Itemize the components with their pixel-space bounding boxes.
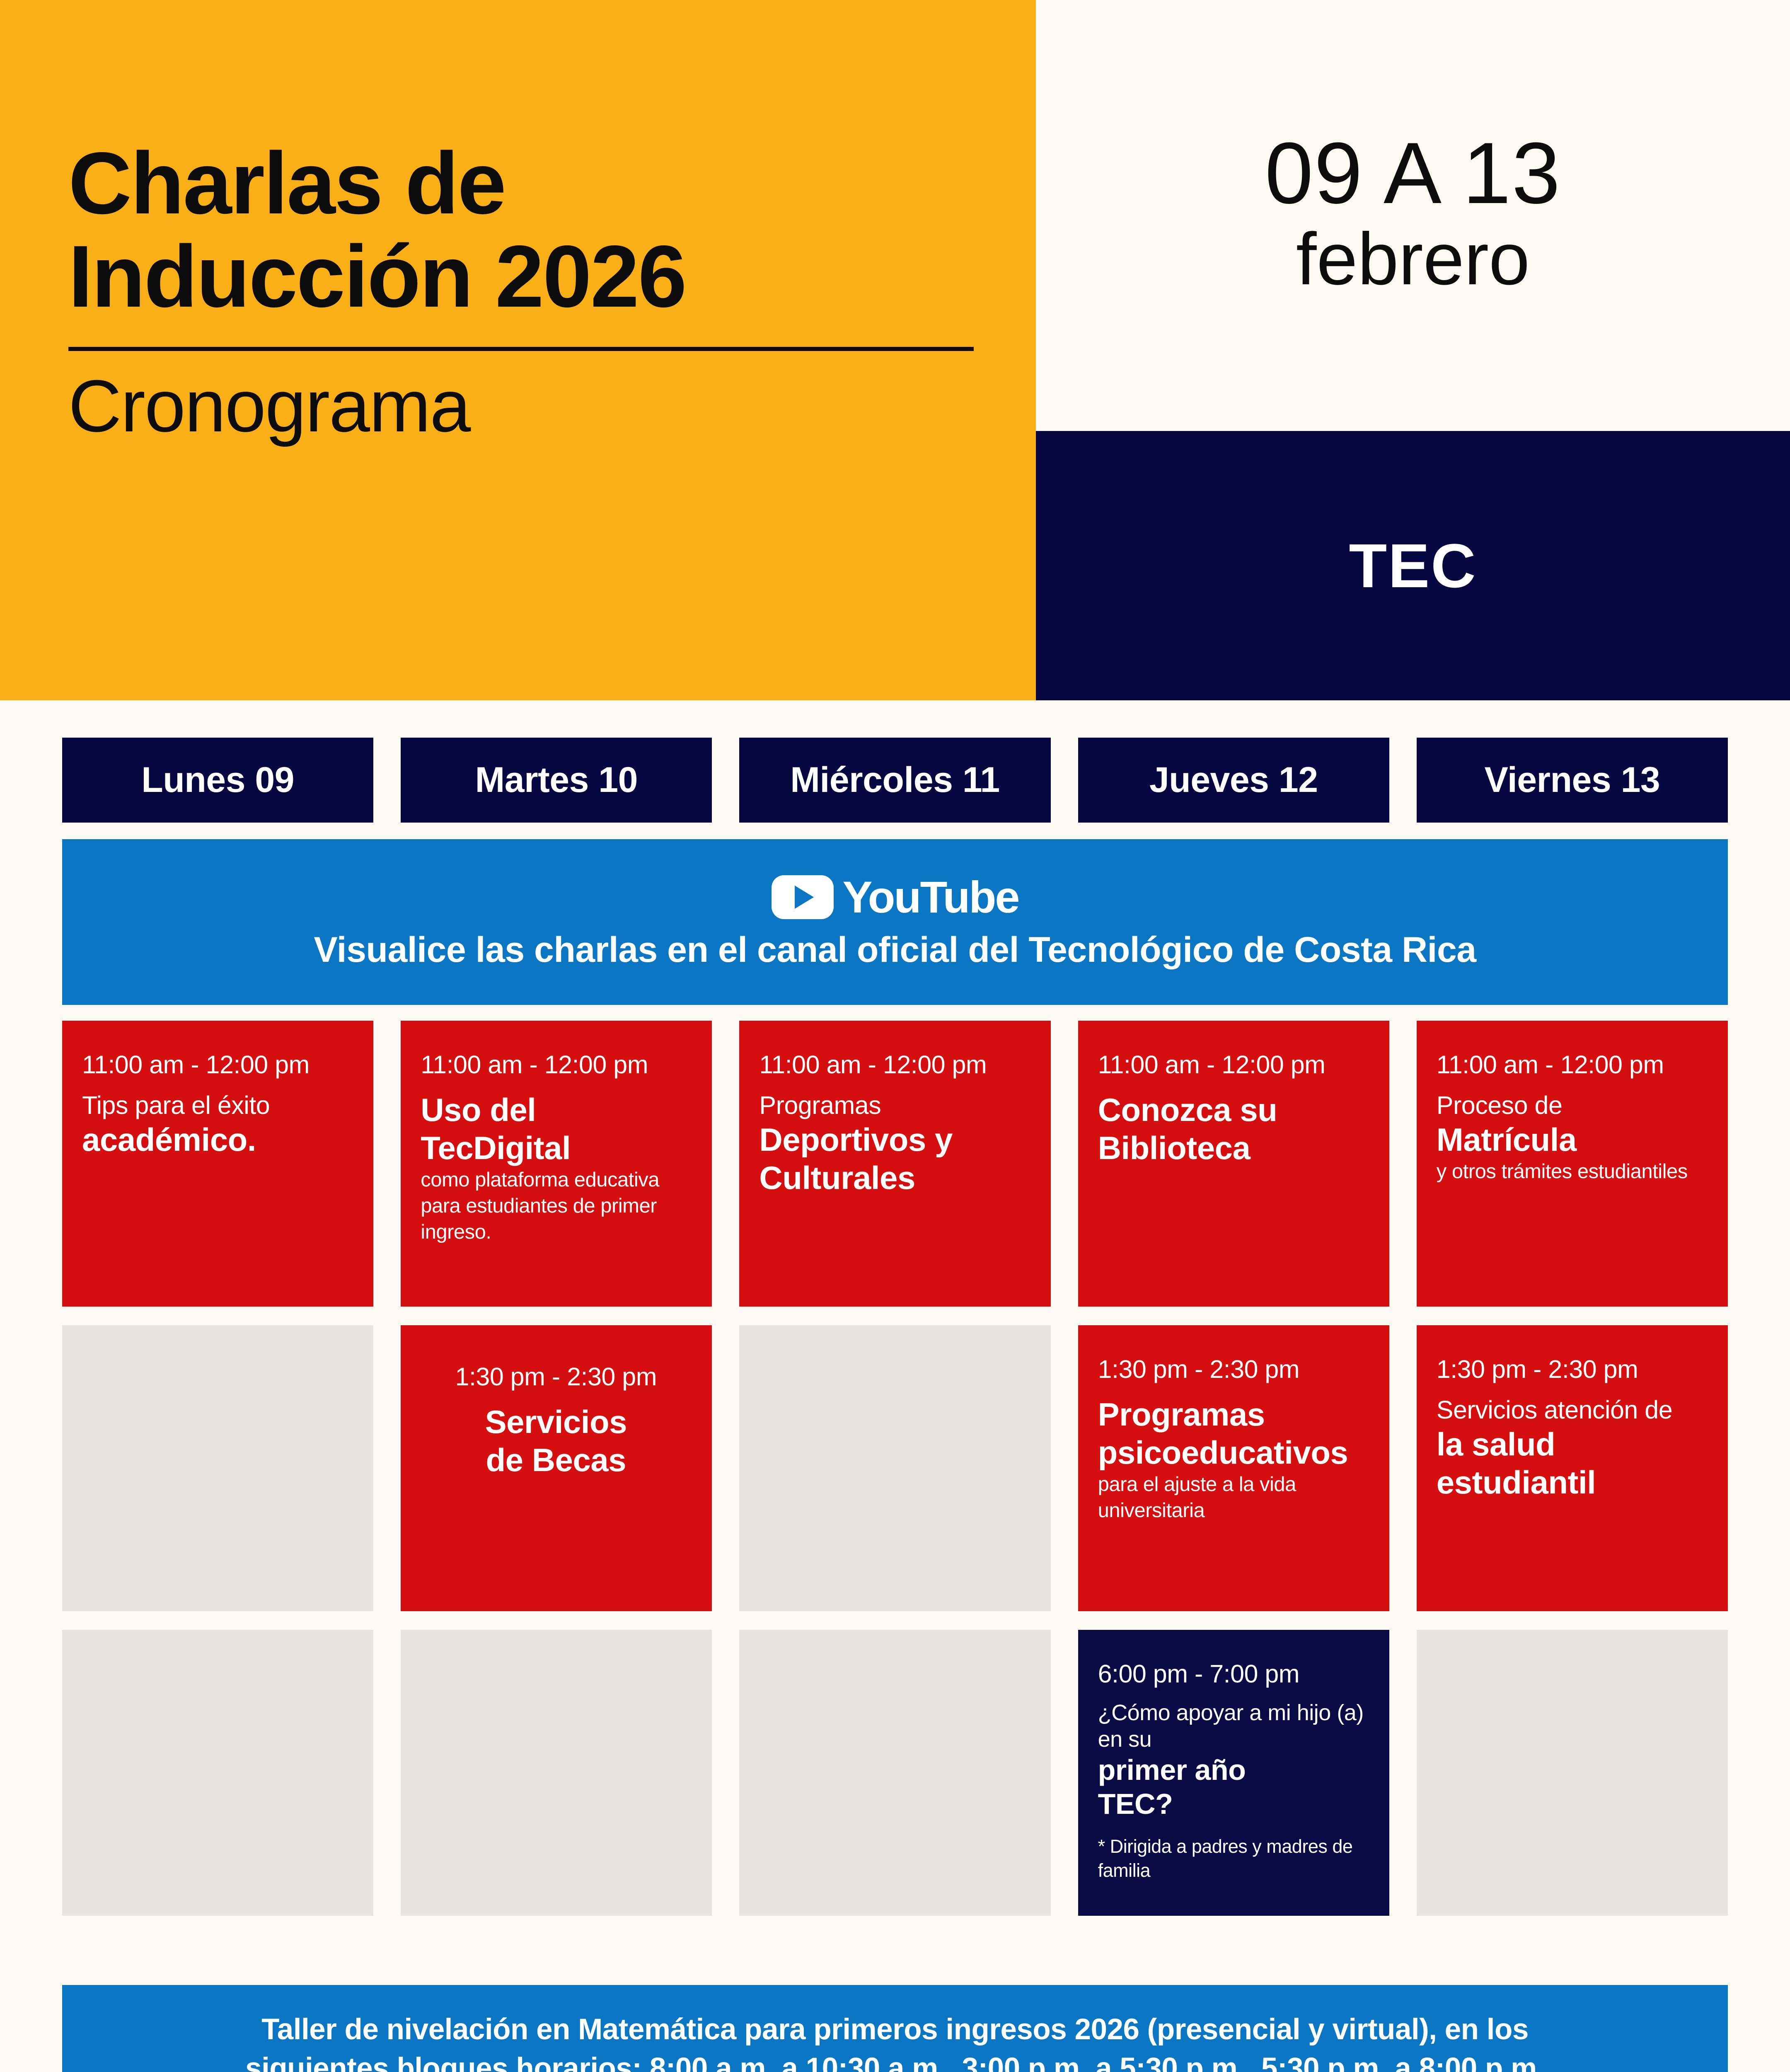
session-text-line: Servicios [421,1403,691,1441]
session-text-line: Tips para el éxito [82,1091,353,1121]
date-month: febrero [1296,217,1530,302]
session-text-line: como plataforma educativa para estudiant… [421,1167,691,1245]
poster-header: Charlas de Inducción 2026 Cronograma 09 … [0,0,1790,700]
session-time: 11:00 am - 12:00 pm [759,1050,1030,1080]
schedule-cell-empty [1417,1630,1728,1916]
session-text-line: de Becas [421,1441,691,1479]
page-subtitle: Cronograma [68,369,1036,443]
schedule-cell[interactable]: 11:00 am - 12:00 pmUso delTecDigitalcomo… [401,1021,712,1307]
schedule-cell[interactable]: 1:30 pm - 2:30 pmProgramaspsicoeducativo… [1078,1325,1389,1611]
schedule-cards: 11:00 am - 12:00 pmTips para el éxitoaca… [62,1021,1728,1916]
session-text-line: * Dirigida a padres y madres de familia [1098,1835,1369,1883]
session-text-line: Programas [759,1091,1030,1121]
youtube-banner[interactable]: YouTube Visualice las charlas en el cana… [62,839,1728,1005]
session-text-line: para el ajuste a la vida universitaria [1098,1472,1369,1523]
day-header-viernes[interactable]: Viernes 13 [1417,738,1728,823]
session-text-line: Proceso de [1437,1091,1707,1121]
session-time: 11:00 am - 12:00 pm [421,1050,691,1080]
schedule-cell[interactable]: 1:30 pm - 2:30 pmServicios atención dela… [1417,1325,1728,1611]
session-time: 11:00 am - 12:00 pm [82,1050,353,1080]
session-text-line: Conozca su [1098,1091,1369,1129]
session-text-line: TEC? [1098,1787,1369,1821]
session-text-line: Deportivos y [759,1121,1030,1159]
youtube-wordmark: YouTube [843,875,1019,920]
schedule-cell[interactable]: 1:30 pm - 2:30 pmServiciosde Becas [401,1325,712,1611]
page-title: Charlas de Inducción 2026 [68,137,1036,323]
session-time: 11:00 am - 12:00 pm [1437,1050,1707,1080]
session-time: 1:30 pm - 2:30 pm [1437,1354,1707,1385]
session-time: 11:00 am - 12:00 pm [1098,1050,1369,1080]
header-date-block: 09 A 13 febrero [1036,0,1790,431]
schedule-cell-empty [62,1630,373,1916]
schedule-cell[interactable]: 6:00 pm - 7:00 pm¿Cómo apoyar a mi hijo … [1078,1630,1389,1916]
tec-logo: TEC [1349,535,1477,597]
schedule-column: 11:00 am - 12:00 pmConozca suBiblioteca1… [1078,1021,1389,1916]
youtube-caption: Visualice las charlas en el canal oficia… [314,930,1476,970]
session-text-line: Culturales [759,1159,1030,1197]
schedule-grid: Lunes 09 Martes 10 Miércoles 11 Jueves 1… [62,738,1728,1916]
schedule-cell[interactable]: 11:00 am - 12:00 pmTips para el éxitoaca… [62,1021,373,1307]
title-divider [68,347,974,351]
schedule-cell[interactable]: 11:00 am - 12:00 pmProceso deMatrículay … [1417,1021,1728,1307]
day-header-lunes[interactable]: Lunes 09 [62,738,373,823]
session-time: 6:00 pm - 7:00 pm [1098,1659,1369,1689]
schedule-cell-empty [401,1630,712,1916]
day-header-martes[interactable]: Martes 10 [401,738,712,823]
schedule-column: 11:00 am - 12:00 pmTips para el éxitoaca… [62,1021,373,1916]
schedule-cell-empty [739,1325,1050,1611]
session-text-line: académico. [82,1121,353,1159]
header-title-block: Charlas de Inducción 2026 Cronograma [0,0,1036,700]
session-text-line: TecDigital [421,1129,691,1167]
session-text-line: estudiantil [1437,1463,1707,1501]
session-text-line: Matrícula [1437,1121,1707,1159]
schedule-cell-empty [62,1325,373,1611]
poster-root: Charlas de Inducción 2026 Cronograma 09 … [0,0,1790,2072]
day-header-row: Lunes 09 Martes 10 Miércoles 11 Jueves 1… [62,738,1728,823]
schedule-column: 11:00 am - 12:00 pmProgramasDeportivos y… [739,1021,1050,1916]
session-text-line: Servicios atención de [1437,1395,1707,1425]
session-text-line: Biblioteca [1098,1129,1369,1167]
schedule-cell-empty [739,1630,1050,1916]
session-text-line: la salud [1437,1425,1707,1463]
session-text-line: psicoeducativos [1098,1433,1369,1472]
footer-line-2: siguientes bloques horarios: 8:00 a.m. a… [245,2049,1545,2072]
schedule-column: 11:00 am - 12:00 pmUso delTecDigitalcomo… [401,1021,712,1916]
schedule-column: 11:00 am - 12:00 pmProceso deMatrículay … [1417,1021,1728,1916]
session-text-line: Uso del [421,1091,691,1129]
youtube-icon [772,875,834,919]
date-range: 09 A 13 [1265,130,1561,217]
schedule-cell[interactable]: 11:00 am - 12:00 pmProgramasDeportivos y… [739,1021,1050,1307]
schedule-cell[interactable]: 11:00 am - 12:00 pmConozca suBiblioteca [1078,1021,1389,1307]
footer-banner: Taller de nivelación en Matemática para … [62,1985,1728,2072]
session-text-line: primer año [1098,1753,1369,1787]
session-time: 1:30 pm - 2:30 pm [421,1362,691,1392]
session-text-line: ¿Cómo apoyar a mi hijo (a) en su [1098,1700,1369,1752]
session-text-line: Programas [1098,1395,1369,1433]
session-text-line: y otros trámites estudiantiles [1437,1159,1707,1185]
footer-line-1: Taller de nivelación en Matemática para … [261,2010,1529,2049]
day-header-jueves[interactable]: Jueves 12 [1078,738,1389,823]
youtube-logo: YouTube [772,875,1019,920]
day-header-miercoles[interactable]: Miércoles 11 [739,738,1050,823]
header-logo-block: TEC [1036,431,1790,700]
session-time: 1:30 pm - 2:30 pm [1098,1354,1369,1385]
